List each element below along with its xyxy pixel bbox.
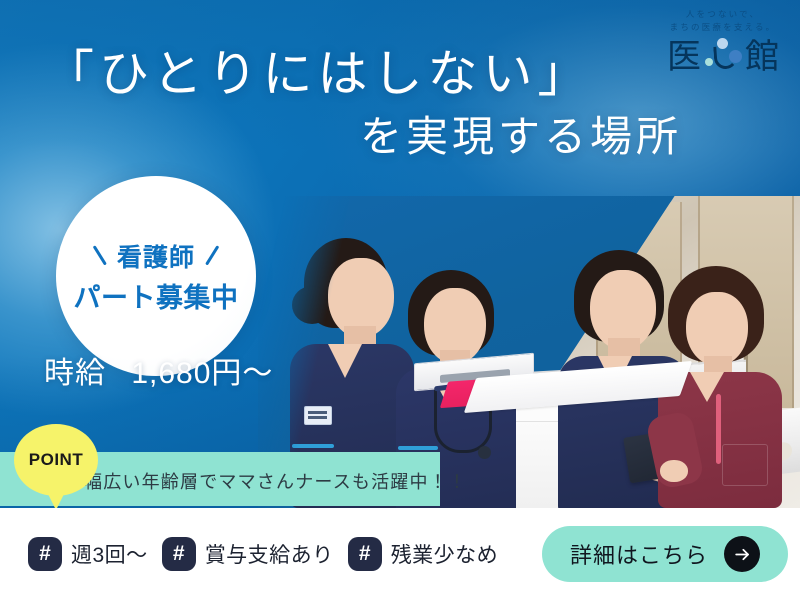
point-bubble: POINT	[14, 424, 98, 496]
hash-icon: #	[162, 537, 196, 571]
badge-status-label: パート募集中	[74, 276, 239, 315]
tag-item[interactable]: # 残業少なめ	[348, 537, 499, 571]
point-label: POINT	[29, 450, 83, 470]
badge-role-label: 看護師	[117, 238, 195, 274]
tag-item[interactable]: # 賞与支給あり	[162, 537, 334, 571]
tag-list: # 週3回～ # 賞与支給あり # 残業少なめ	[0, 537, 512, 571]
arrow-right-icon	[724, 536, 760, 572]
recruitment-banner: 人をつないで、 まちの医療を支える。 医 館 「ひとりにはしない」 を実現する場…	[0, 0, 800, 600]
slash-left-icon	[93, 246, 107, 266]
hash-icon: #	[348, 537, 382, 571]
wage-label: 時給	[44, 357, 106, 390]
hash-icon: #	[28, 537, 62, 571]
nurse-figure	[658, 208, 786, 508]
wage-info: 時給 1,680円～	[44, 348, 273, 392]
tag-item[interactable]: # 週3回～	[28, 537, 148, 571]
details-cta-button[interactable]: 詳細はこちら	[542, 526, 788, 582]
tag-label: 残業少なめ	[391, 539, 499, 569]
slash-right-icon	[205, 246, 219, 266]
tag-label: 賞与支給あり	[205, 539, 334, 569]
wage-amount: 1,680円～	[131, 357, 273, 390]
id-badge	[304, 406, 332, 425]
point-text: 幅広い年齢層でママさんナースも活躍中！！	[84, 468, 467, 494]
recruiting-badge: 看護師 パート募集中	[56, 176, 256, 376]
cta-label: 詳細はこちら	[570, 538, 708, 570]
badge-role-row: 看護師	[89, 238, 223, 274]
bottom-bar: # 週3回～ # 賞与支給あり # 残業少なめ 詳細はこちら	[0, 508, 800, 600]
tag-label: 週3回～	[71, 539, 148, 569]
